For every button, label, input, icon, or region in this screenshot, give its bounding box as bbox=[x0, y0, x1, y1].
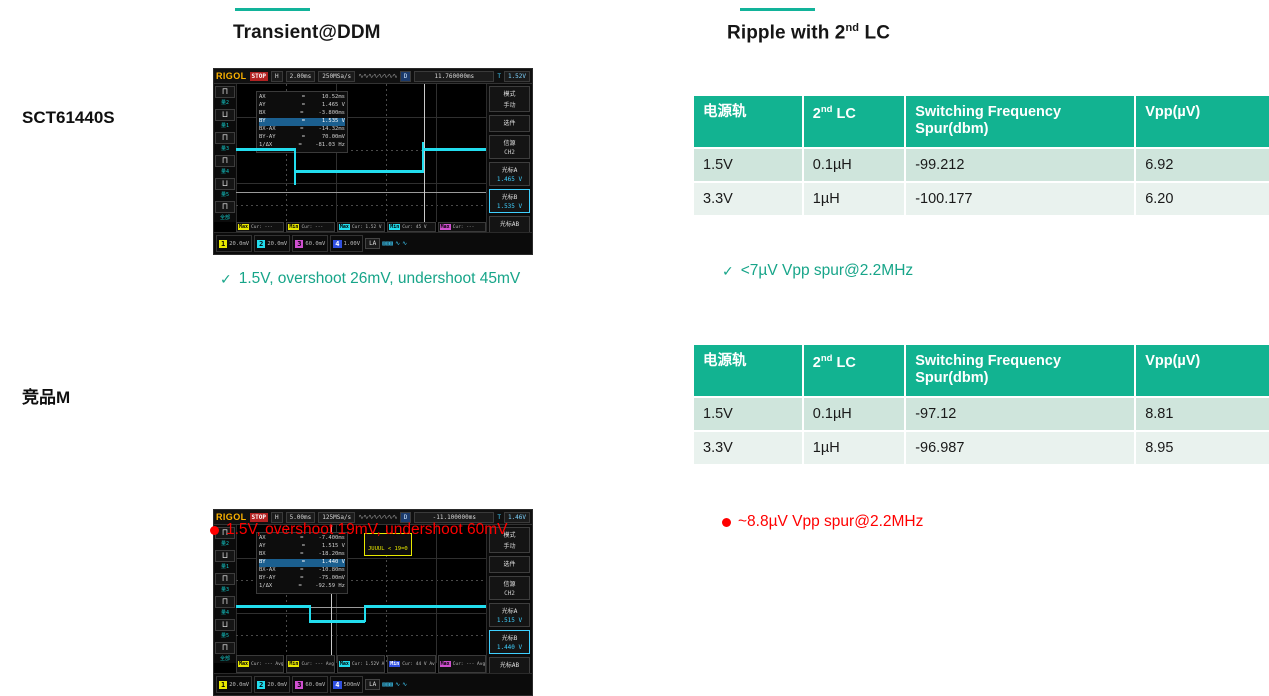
caption-bottom-right: ~8.8µV Vpp spur@2.2MHz bbox=[722, 513, 923, 531]
cursor-measurement-panel-bottom: AX=-7.400ms AY=1.515 V BX=-18.20ms BY=1.… bbox=[256, 532, 348, 594]
channel-4[interactable]: 41.00V bbox=[330, 235, 363, 252]
col-header-vpp: Vpp(µV) bbox=[1135, 96, 1269, 148]
wave-icon-2: ∿ bbox=[402, 240, 407, 247]
measure-box[interactable]: MaxCur: --- bbox=[438, 222, 486, 232]
measure-label-6: 全部 bbox=[220, 214, 230, 221]
measure-icon-6[interactable]: ⊓ bbox=[215, 201, 235, 213]
cell-vpp: 6.92 bbox=[1135, 148, 1269, 182]
measure-box[interactable]: MaxCur: --- bbox=[236, 222, 284, 232]
col-header-spur: Switching Frequency Spur(dbm) bbox=[905, 345, 1135, 397]
measure-icon-4[interactable]: ⊓ bbox=[215, 596, 235, 608]
measure-label-5: 量5 bbox=[221, 191, 229, 198]
scope-waveform-grid-bottom: JUUUL < 19=0 AX=-7.400ms AY=1.515 V BX=-… bbox=[236, 525, 486, 663]
timebase-value[interactable]: 2.00ms bbox=[286, 71, 316, 82]
menu-cursor-b[interactable]: 光标B1.440 V bbox=[489, 630, 530, 654]
measure-icon-3[interactable]: ⊓ bbox=[215, 573, 235, 585]
menu-cursor-b[interactable]: 光标B1.535 V bbox=[489, 189, 530, 213]
cursor-measurement-panel-top: AX=10.52ms AY=1.465 V BX=-3.800ms BY=1.5… bbox=[256, 91, 348, 153]
measure-label-6: 全部 bbox=[220, 655, 230, 662]
bullet-icon bbox=[210, 526, 219, 535]
measurement-row: 1/ΔX=-92.59 Hz bbox=[259, 583, 345, 591]
scope-channel-bar-top: 120.0mV 220.0mV 360.0mV 41.00V LA ▨▨▨ ∿ … bbox=[214, 232, 532, 254]
menu-source[interactable]: 信源CH2 bbox=[489, 576, 530, 600]
measurement-row-selected[interactable]: BY=1.440 V bbox=[259, 559, 345, 567]
logic-analyzer-button[interactable]: LA bbox=[365, 238, 380, 249]
oscilloscope-screenshot-top: RIGOL STOP H 2.00ms 250MSa/s ∿∿∿∿∿∿∿∿∿∿∿… bbox=[213, 68, 533, 255]
measure-label-1: 量2 bbox=[221, 540, 229, 547]
table-header-row: 电源轨 2nd LC Switching Frequency Spur(dbm)… bbox=[694, 96, 1269, 148]
waveform-trace-low bbox=[295, 170, 424, 173]
timebase-label: H bbox=[271, 71, 283, 82]
measure-box[interactable]: MinCur: --- Avg: --- Dev: 0.0V bbox=[286, 655, 334, 673]
caption-top-right-text: <7µV Vpp spur@2.2MHz bbox=[741, 262, 913, 280]
trigger-level[interactable]: 1.52V bbox=[504, 71, 530, 82]
menu-cursor-a[interactable]: 光标A1.465 V bbox=[489, 162, 530, 186]
measurement-row: AY=1.465 V bbox=[259, 102, 345, 110]
delay-label: D bbox=[400, 71, 412, 82]
channel-3[interactable]: 360.0mV bbox=[292, 235, 328, 252]
measure-label-5: 量5 bbox=[221, 632, 229, 639]
col-header-lc: 2nd LC bbox=[803, 96, 905, 148]
cell-rail: 3.3V bbox=[694, 182, 803, 216]
measure-icon-3[interactable]: ⊓ bbox=[215, 132, 235, 144]
scope-left-toolbar: ⊓量2 ⊔量1 ⊓量3 ⊓量4 ⊔量5 ⊓全部 bbox=[214, 525, 237, 663]
logic-analyzer-button[interactable]: LA bbox=[365, 679, 380, 690]
scope-measure-strip-top: MaxCur: --- MinCur: --- MaxCur: 1.52 V M… bbox=[236, 222, 486, 232]
table-bottom: 电源轨 2nd LC Switching Frequency Spur(dbm)… bbox=[694, 345, 1269, 466]
scope-waveform-grid-top: AX=10.52ms AY=1.465 V BX=-3.800ms BY=1.5… bbox=[236, 84, 486, 222]
table-header-row: 电源轨 2nd LC Switching Frequency Spur(dbm)… bbox=[694, 345, 1269, 397]
measure-label-1: 量2 bbox=[221, 99, 229, 106]
measure-icon-6[interactable]: ⊓ bbox=[215, 642, 235, 654]
caption-top-right: ✓ <7µV Vpp spur@2.2MHz bbox=[722, 262, 913, 280]
wave-icon-1: ∿ bbox=[395, 681, 400, 688]
measurement-row: BX=-18.20ms bbox=[259, 551, 345, 559]
channel-1[interactable]: 120.0mV bbox=[216, 676, 252, 693]
cell-rail: 1.5V bbox=[694, 397, 803, 431]
row-label-sct61440s: SCT61440S bbox=[22, 108, 115, 128]
scope-right-menu-top: 模式手动 选件 信源CH2 光标A1.465 V 光标B1.535 V 光标AB… bbox=[486, 84, 532, 232]
caption-top-left-text: 1.5V, overshoot 26mV, undershoot 45mV bbox=[239, 270, 521, 288]
scope-measure-strip-bottom: MaxCur: --- Avg: --- Dev: 0.0V MinCur: -… bbox=[236, 655, 486, 673]
spur-table-bottom: 电源轨 2nd LC Switching Frequency Spur(dbm)… bbox=[694, 345, 1269, 466]
waveform-trace-high-right bbox=[424, 148, 486, 151]
table-top: 电源轨 2nd LC Switching Frequency Spur(dbm)… bbox=[694, 96, 1269, 217]
waveform-trace-low bbox=[309, 620, 365, 623]
cell-lc: 0.1µH bbox=[803, 148, 905, 182]
measure-box[interactable]: MaxCur: --- Avg: --- Dev: 0.0V bbox=[236, 655, 284, 673]
menu-source[interactable]: 信源CH2 bbox=[489, 135, 530, 159]
bullet-icon bbox=[722, 518, 731, 527]
cell-spur: -100.177 bbox=[905, 182, 1135, 216]
col-header-rail: 电源轨 bbox=[694, 345, 803, 397]
wave-icon-1: ∿ bbox=[395, 240, 400, 247]
scope-channel-bar-bottom: 120.0mV 220.0mV 360.0mV 4500mV LA ▨▨▨ ∿ … bbox=[214, 673, 532, 695]
right-header-title: Ripple with 2nd LC bbox=[727, 22, 890, 44]
measurement-row: BX-AX=-10.80ms bbox=[259, 567, 345, 575]
channel-2[interactable]: 220.0mV bbox=[254, 676, 290, 693]
left-header-rule bbox=[235, 8, 310, 11]
waveform-edge-falling bbox=[294, 148, 296, 185]
right-header-title-sup: nd bbox=[845, 22, 859, 34]
cell-vpp: 8.95 bbox=[1135, 431, 1269, 465]
caption-top-left: ✓ 1.5V, overshoot 26mV, undershoot 45mV bbox=[220, 270, 520, 288]
table-row: 1.5V 0.1µH -97.12 8.81 bbox=[694, 397, 1269, 431]
channel-2[interactable]: 220.0mV bbox=[254, 235, 290, 252]
measure-label-2: 量1 bbox=[221, 122, 229, 129]
cell-rail: 1.5V bbox=[694, 148, 803, 182]
delay-value[interactable]: 11.760000ms bbox=[414, 71, 494, 82]
measure-label-3: 量3 bbox=[221, 145, 229, 152]
menu-cursor-a[interactable]: 光标A1.515 V bbox=[489, 603, 530, 627]
measure-icon-4[interactable]: ⊓ bbox=[215, 155, 235, 167]
channel-1[interactable]: 120.0mV bbox=[216, 235, 252, 252]
right-header-title-pre: Ripple with 2 bbox=[727, 22, 845, 43]
measure-box[interactable]: MaxCur: 1.52 V bbox=[337, 222, 385, 232]
left-header-title-text: Transient@DDM bbox=[233, 22, 381, 43]
caption-bottom-left-text: 1.5V, overshoot 19mV, undershoot 60mV bbox=[226, 521, 508, 539]
col-header-spur: Switching Frequency Spur(dbm) bbox=[905, 96, 1135, 148]
cell-lc: 1µH bbox=[803, 431, 905, 465]
menu-options[interactable]: 选件 bbox=[489, 556, 530, 573]
left-header-title: Transient@DDM bbox=[233, 22, 381, 44]
measure-icon-1[interactable]: ⊓ bbox=[215, 86, 235, 98]
measure-box[interactable]: MinCur: 44 V Avg: 44 V Dev: 0.0V bbox=[387, 655, 435, 673]
memory-waveform-strip: ∿∿∿∿∿∿∿∿∿∿∿∿∿∿∿∿∿∿∿∿∿ bbox=[358, 72, 397, 81]
digital-bus-icon: ▨▨▨ bbox=[382, 240, 393, 247]
measurement-row: AY=1.515 V bbox=[259, 543, 345, 551]
run-state-badge[interactable]: STOP bbox=[250, 72, 268, 81]
measurement-row: BY-AY=70.00mV bbox=[259, 134, 345, 142]
measurement-row: AX=10.52ms bbox=[259, 94, 345, 102]
sample-rate: 250MSa/s bbox=[318, 71, 355, 82]
measure-label-4: 量4 bbox=[221, 609, 229, 616]
cell-spur: -99.212 bbox=[905, 148, 1135, 182]
rigol-logo: RIGOL bbox=[216, 71, 247, 81]
channel-4[interactable]: 4500mV bbox=[330, 676, 363, 693]
trigger-label: T bbox=[497, 514, 501, 521]
measure-box[interactable]: MinCur: 45 V bbox=[387, 222, 435, 232]
measure-label-4: 量4 bbox=[221, 168, 229, 175]
measure-label-2: 量1 bbox=[221, 563, 229, 570]
measure-icon-5[interactable]: ⊔ bbox=[215, 178, 235, 190]
scope-left-toolbar: ⊓量2 ⊔量1 ⊓量3 ⊓量4 ⊔量5 ⊓全部 bbox=[214, 84, 237, 222]
measure-icon-2[interactable]: ⊔ bbox=[215, 109, 235, 121]
measure-icon-2[interactable]: ⊔ bbox=[215, 550, 235, 562]
channel-3[interactable]: 360.0mV bbox=[292, 676, 328, 693]
digital-bus-icon: ▨▨▨ bbox=[382, 681, 393, 688]
cell-spur: -97.12 bbox=[905, 397, 1135, 431]
col-header-lc: 2nd LC bbox=[803, 345, 905, 397]
menu-mode[interactable]: 模式手动 bbox=[489, 86, 530, 112]
table-row: 1.5V 0.1µH -99.212 6.92 bbox=[694, 148, 1269, 182]
spur-table-top: 电源轨 2nd LC Switching Frequency Spur(dbm)… bbox=[694, 96, 1269, 217]
waveform-trace-high-right bbox=[364, 605, 486, 608]
measurement-row: BY-AY=-75.00mV bbox=[259, 575, 345, 583]
right-header-title-tail: LC bbox=[859, 22, 890, 43]
table-row: 3.3V 1µH -100.177 6.20 bbox=[694, 182, 1269, 216]
table-row: 3.3V 1µH -96.987 8.95 bbox=[694, 431, 1269, 465]
row-label-competitor: 竞品M bbox=[22, 383, 70, 408]
cell-vpp: 8.81 bbox=[1135, 397, 1269, 431]
measure-box[interactable]: MaxCur: 1.52V Avg: 1.52V Dev: 0.0V bbox=[337, 655, 385, 673]
measurement-row: BX=-3.800ms bbox=[259, 110, 345, 118]
wave-icon-2: ∿ bbox=[402, 681, 407, 688]
measure-icon-5[interactable]: ⊔ bbox=[215, 619, 235, 631]
waveform-edge-rising bbox=[422, 142, 424, 172]
cell-vpp: 6.20 bbox=[1135, 182, 1269, 216]
col-header-vpp: Vpp(µV) bbox=[1135, 345, 1269, 397]
trigger-label: T bbox=[497, 73, 501, 80]
measure-box[interactable]: MinCur: --- bbox=[286, 222, 334, 232]
cell-lc: 1µH bbox=[803, 182, 905, 216]
measure-label-3: 量3 bbox=[221, 586, 229, 593]
measure-box[interactable]: MaxCur: --- Avg: --- Dev: 0.0V bbox=[438, 655, 486, 673]
caption-bottom-left: 1.5V, overshoot 19mV, undershoot 60mV bbox=[210, 521, 508, 539]
waveform-trace-high-left bbox=[236, 605, 310, 608]
scope-top-statusbar: RIGOL STOP H 2.00ms 250MSa/s ∿∿∿∿∿∿∿∿∿∿∿… bbox=[214, 69, 532, 84]
scope-right-menu-bottom: 模式手动 选件 信源CH2 光标A1.515 V 光标B1.440 V 光标AB… bbox=[486, 525, 532, 673]
right-header-rule bbox=[740, 8, 815, 11]
col-header-rail: 电源轨 bbox=[694, 96, 803, 148]
check-icon: ✓ bbox=[722, 264, 734, 278]
caption-bottom-right-text: ~8.8µV Vpp spur@2.2MHz bbox=[738, 513, 923, 531]
check-icon: ✓ bbox=[220, 272, 232, 286]
measurement-row-selected[interactable]: BY=1.535 V bbox=[259, 118, 345, 126]
waveform-trace-high-left bbox=[236, 148, 295, 151]
cell-lc: 0.1µH bbox=[803, 397, 905, 431]
measurement-row: BX-AX=-14.32ms bbox=[259, 126, 345, 134]
cell-spur: -96.987 bbox=[905, 431, 1135, 465]
cell-rail: 3.3V bbox=[694, 431, 803, 465]
menu-options[interactable]: 选件 bbox=[489, 115, 530, 132]
